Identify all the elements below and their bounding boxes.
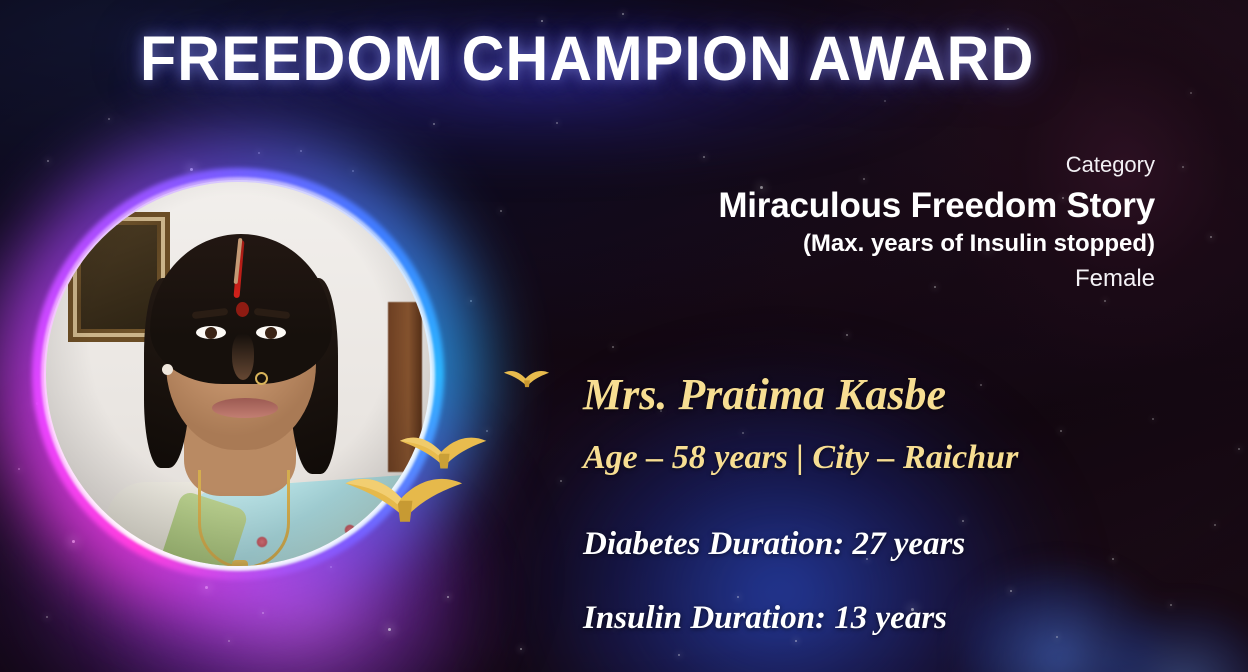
photo-saree-motif	[308, 554, 324, 566]
category-name: Miraculous Freedom Story	[718, 185, 1155, 226]
awardee-name: Mrs. Pratima Kasbe	[583, 372, 1018, 418]
diabetes-duration: Diabetes Duration: 27 years	[583, 528, 965, 561]
awardee-age-city: Age – 58 years | City – Raichur	[583, 440, 1018, 476]
insulin-duration: Insulin Duration: 13 years	[583, 602, 947, 635]
background-blue-cloud	[960, 502, 1248, 672]
bird-small-icon	[503, 366, 551, 390]
award-certificate-card: FREEDOM CHAMPION AWARD	[0, 0, 1248, 672]
awardee-name-block: Mrs. Pratima Kasbe Age – 58 years | City…	[583, 372, 1018, 476]
category-qualifier: (Max. years of Insulin stopped)	[718, 230, 1155, 259]
bird-large-icon	[343, 466, 467, 528]
category-label: Category	[718, 152, 1155, 179]
page-title: FREEDOM CHAMPION AWARD	[140, 28, 1034, 91]
category-gender: Female	[718, 265, 1155, 294]
category-block: Category Miraculous Freedom Story (Max. …	[718, 152, 1155, 294]
